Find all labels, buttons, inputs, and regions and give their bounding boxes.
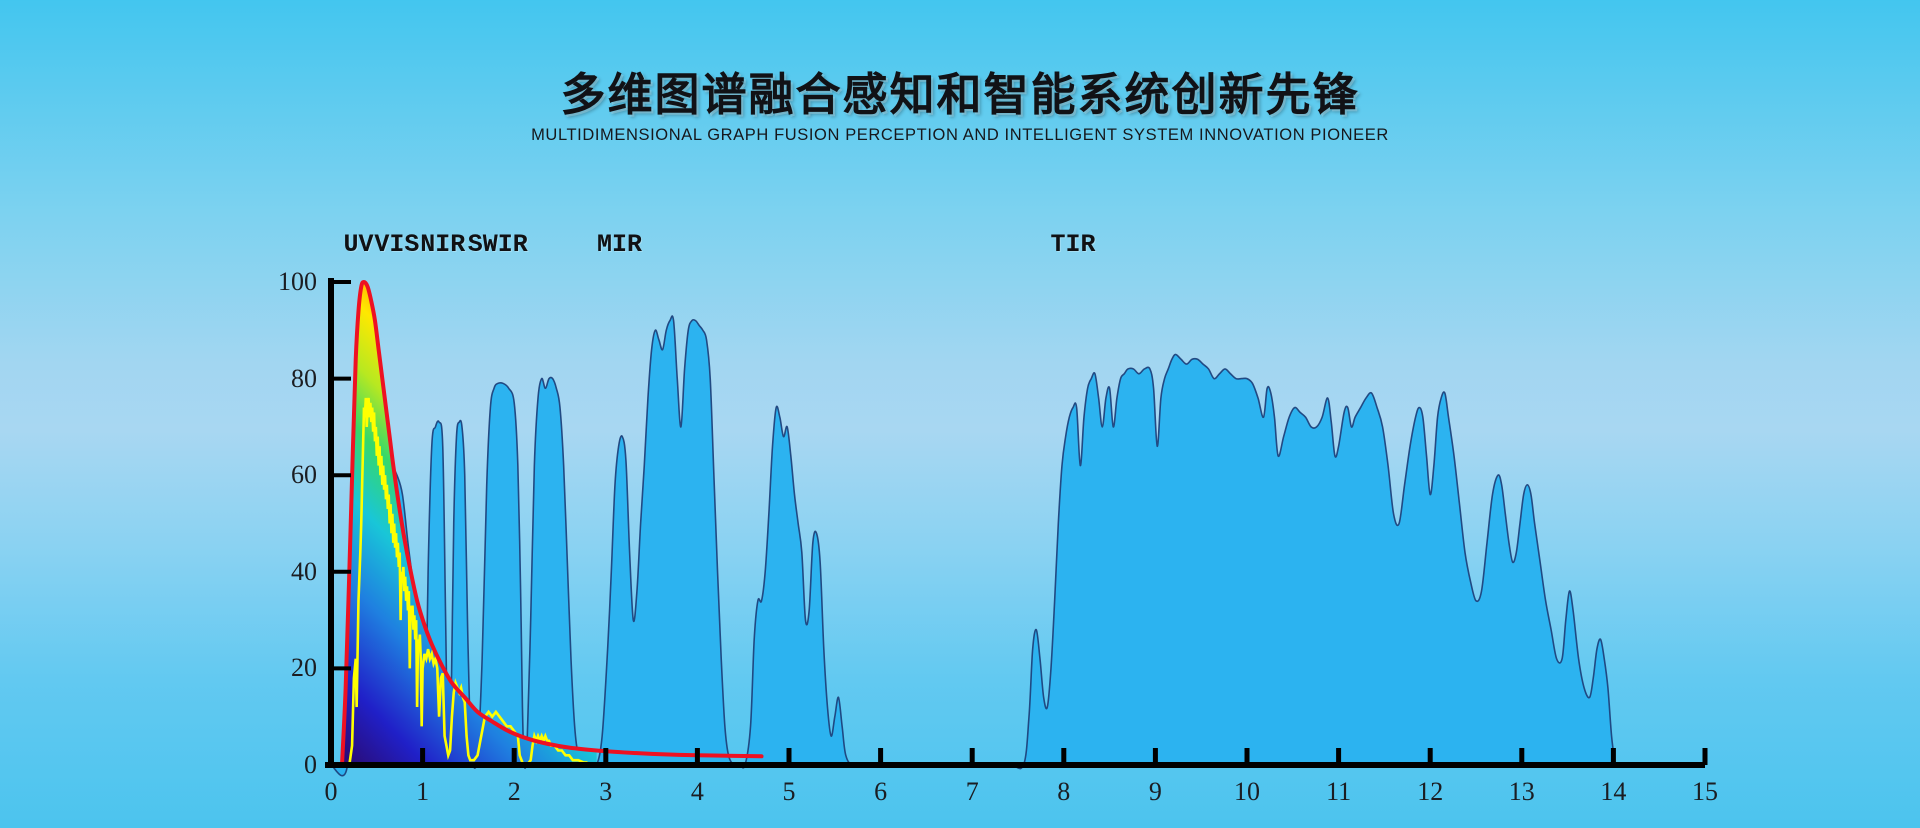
y-tick-label: 80 [291, 364, 317, 394]
x-tick-label: 3 [599, 777, 612, 807]
x-tick-label: 4 [691, 777, 704, 807]
x-tick-label: 7 [966, 777, 979, 807]
x-tick-label: 6 [874, 777, 887, 807]
y-tick-label: 40 [291, 557, 317, 587]
x-tick-label: 8 [1057, 777, 1070, 807]
x-tick-label: 14 [1600, 777, 1626, 807]
y-tick-label: 0 [304, 750, 317, 780]
y-tick-label: 100 [278, 267, 317, 297]
x-tick-label: 12 [1417, 777, 1443, 807]
x-tick-label: 11 [1326, 777, 1351, 807]
spectrum-chart [0, 0, 1920, 828]
y-tick-label: 60 [291, 460, 317, 490]
x-tick-label: 5 [783, 777, 796, 807]
x-tick-label: 0 [325, 777, 338, 807]
x-tick-label: 9 [1149, 777, 1162, 807]
transmission-area [331, 316, 1615, 776]
x-tick-label: 1 [416, 777, 429, 807]
x-tick-label: 13 [1509, 777, 1535, 807]
x-tick-label: 15 [1692, 777, 1718, 807]
x-tick-label: 2 [508, 777, 521, 807]
y-tick-label: 20 [291, 653, 317, 683]
x-tick-label: 10 [1234, 777, 1260, 807]
